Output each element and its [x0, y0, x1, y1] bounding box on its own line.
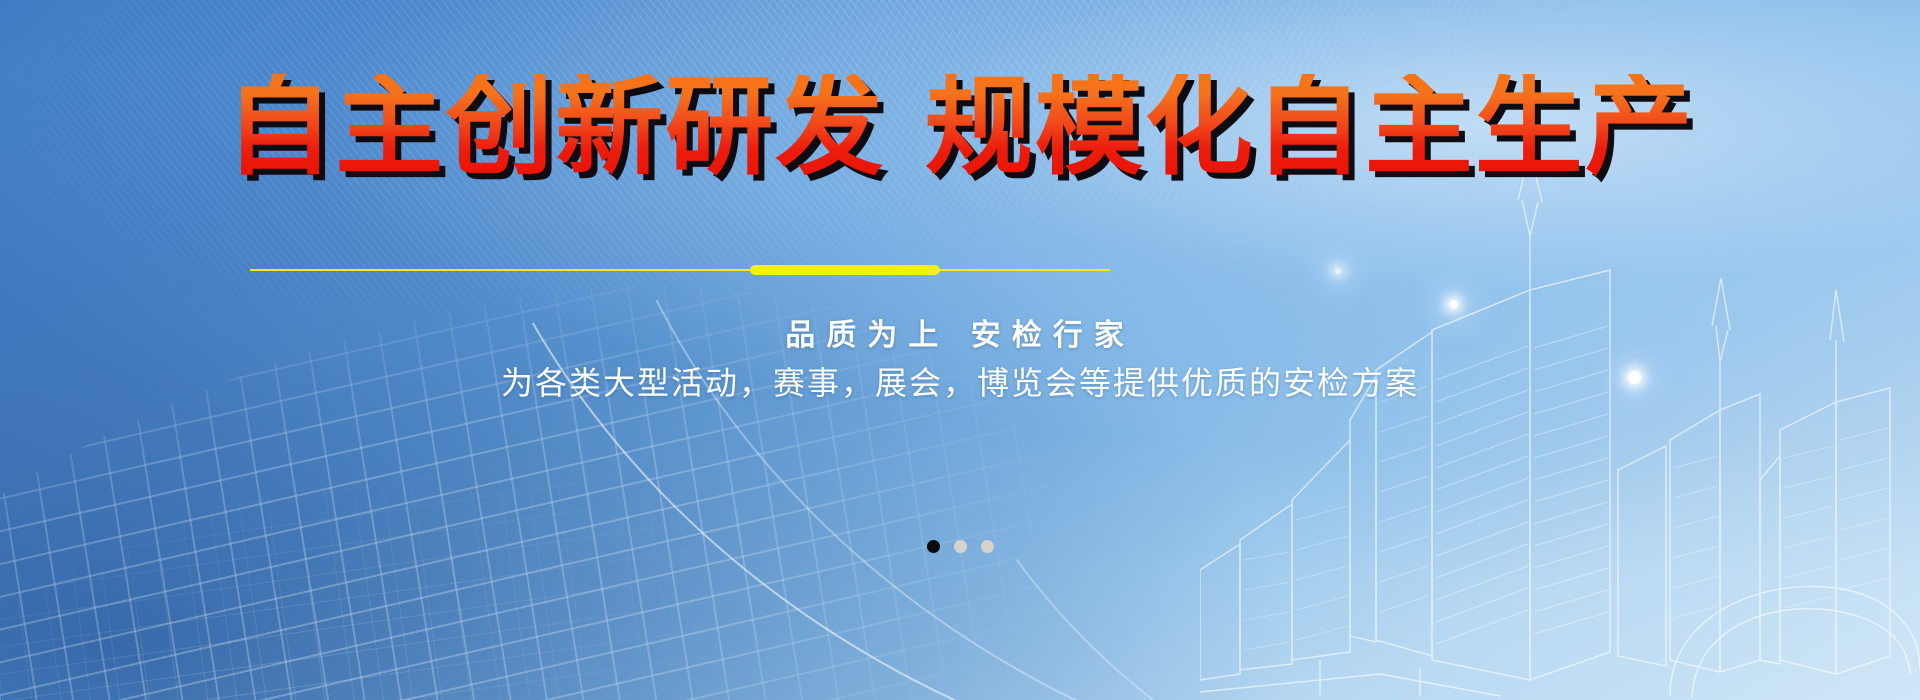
carousel-dot-3[interactable] [981, 540, 994, 553]
banner-content: 自主创新研发 规模化自主生产 品质为上 安检行家 为各类大型活动，赛事，展会，博… [0, 0, 1920, 700]
hero-banner: 自主创新研发 规模化自主生产 品质为上 安检行家 为各类大型活动，赛事，展会，博… [0, 0, 1920, 700]
carousel-dot-1[interactable] [927, 540, 940, 553]
divider [0, 264, 1920, 276]
carousel-indicators[interactable] [0, 540, 1920, 553]
subtitle-description: 为各类大型活动，赛事，展会，博览会等提供优质的安检方案 [0, 358, 1920, 404]
carousel-dot-2[interactable] [954, 540, 967, 553]
page-title: 自主创新研发 规模化自主生产 [0, 74, 1920, 182]
divider-thin-line [250, 269, 1110, 271]
divider-thick-segment [750, 265, 940, 275]
tagline: 品质为上 安检行家 [0, 310, 1920, 354]
